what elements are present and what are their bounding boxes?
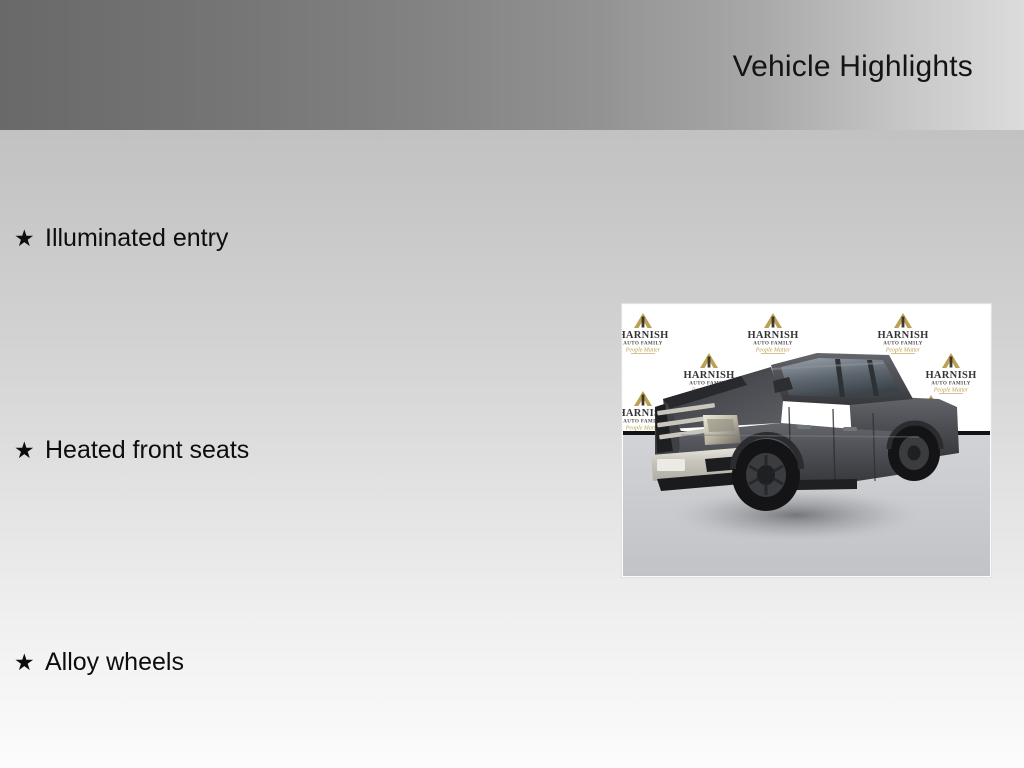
page-title: Vehicle Highlights bbox=[733, 50, 973, 84]
star-bullet-icon: ★ bbox=[14, 439, 45, 462]
header-band: Vehicle Highlights bbox=[0, 0, 1024, 130]
list-item: ★ Illuminated entry bbox=[14, 218, 228, 258]
star-bullet-icon: ★ bbox=[14, 227, 45, 250]
list-item: ★ Heated front seats bbox=[14, 430, 249, 470]
vehicle-photo: HARNISH AUTO FAMILY People Matter bbox=[621, 303, 992, 578]
highlight-label: Alloy wheels bbox=[45, 648, 184, 677]
highlight-label: Heated front seats bbox=[45, 436, 249, 465]
highlight-label: Illuminated entry bbox=[45, 224, 228, 253]
star-bullet-icon: ★ bbox=[14, 651, 45, 674]
vehicle-photo-image: HARNISH AUTO FAMILY People Matter bbox=[621, 303, 992, 578]
list-item: ★ Alloy wheels bbox=[14, 642, 184, 682]
